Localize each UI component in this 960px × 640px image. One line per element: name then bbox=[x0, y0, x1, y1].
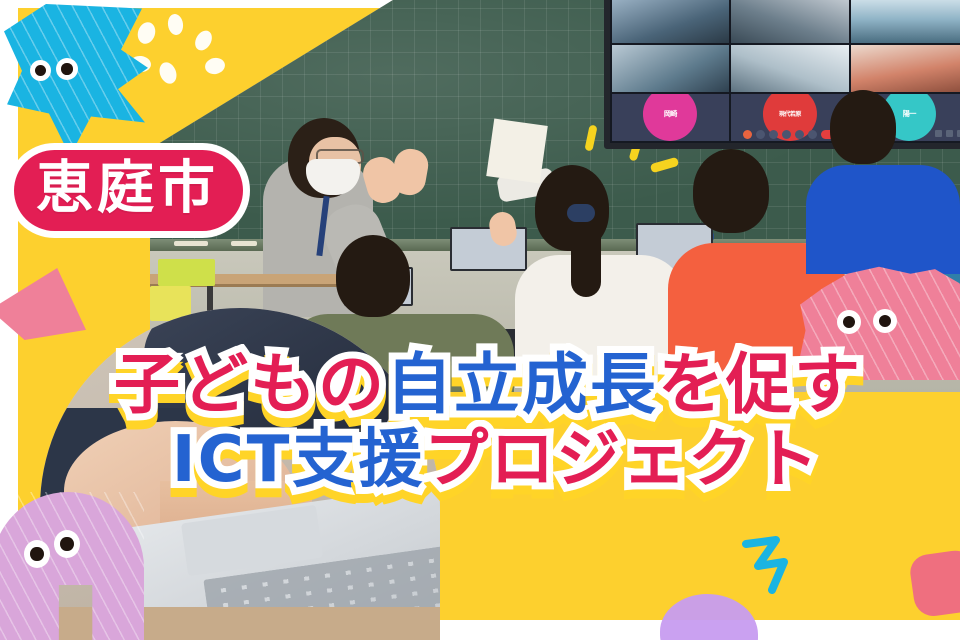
title-char: 長 bbox=[589, 352, 657, 418]
video-tile bbox=[851, 45, 960, 92]
chat-icon bbox=[795, 130, 804, 139]
title-char: 自 bbox=[385, 352, 453, 418]
star-mascot bbox=[4, 4, 154, 156]
city-char-3: 市 bbox=[158, 160, 217, 217]
settings-icon bbox=[935, 130, 942, 137]
network-icon bbox=[946, 130, 953, 137]
student-head bbox=[336, 235, 410, 317]
video-tile bbox=[731, 45, 849, 92]
title-char: ど bbox=[181, 352, 249, 418]
chalk-piece bbox=[231, 241, 257, 246]
cloud-mascot-eye-left bbox=[837, 310, 861, 334]
participants-icon bbox=[782, 130, 791, 139]
star-mascot-eye-left bbox=[30, 60, 51, 81]
title-char: も bbox=[249, 352, 317, 418]
title-char: 子 bbox=[113, 352, 181, 418]
arch-mascot-body bbox=[0, 492, 144, 640]
title-char: 成 bbox=[521, 352, 589, 418]
video-tile bbox=[612, 0, 730, 43]
mic-icon bbox=[743, 130, 752, 139]
title-char: 支 bbox=[291, 428, 357, 492]
video-tile-avatar: 岡崎 bbox=[612, 94, 730, 141]
title-line-1: 子 ど も の 自 立 成 長 を 促 す bbox=[14, 352, 960, 418]
title-char: 立 bbox=[453, 352, 521, 418]
title-char: ト bbox=[753, 428, 819, 492]
cloud-mascot-eye-right bbox=[873, 309, 897, 333]
yellow-tray bbox=[158, 259, 215, 286]
arch-mascot-eye-left bbox=[24, 540, 50, 568]
display-status-icons bbox=[935, 130, 960, 137]
city-name-pill: 恵 庭 市 bbox=[14, 150, 243, 231]
chalk-piece bbox=[174, 241, 208, 246]
title-char: T bbox=[246, 428, 292, 492]
city-name-badge: 恵 庭 市 bbox=[14, 150, 243, 231]
video-conference-display: 岡崎 現代若原 陽一 bbox=[604, 0, 960, 149]
participant-avatar: 岡崎 bbox=[643, 94, 697, 141]
texture-overlay bbox=[4, 4, 154, 156]
texture-overlay bbox=[0, 492, 144, 640]
share-icon bbox=[769, 130, 778, 139]
video-tile bbox=[731, 0, 849, 43]
teacher-face-mask bbox=[306, 159, 360, 195]
title-char: ロ bbox=[489, 428, 555, 492]
city-char-1: 恵 bbox=[36, 160, 95, 217]
arch-mascot-eye-right bbox=[54, 530, 80, 558]
camera-icon bbox=[756, 130, 765, 139]
hair-tie bbox=[567, 204, 595, 222]
title-char: C bbox=[197, 428, 246, 492]
video-tile bbox=[851, 0, 960, 43]
student-head bbox=[693, 149, 769, 233]
city-char-2: 庭 bbox=[97, 160, 156, 217]
title-char: ク bbox=[687, 428, 753, 492]
student-head bbox=[830, 90, 896, 164]
title-line-2: I C T 支 援 プ ロ ジ ェ ク ト bbox=[30, 428, 960, 492]
ponytail bbox=[571, 227, 601, 297]
title-char: プ bbox=[423, 428, 489, 492]
video-tile bbox=[612, 45, 730, 92]
star-mascot-body bbox=[4, 4, 154, 156]
more-icon bbox=[808, 130, 817, 139]
call-controls-toolbar bbox=[743, 130, 837, 139]
star-mascot-eye-right bbox=[56, 58, 78, 80]
main-title: 子 ど も の 自 立 成 長 を 促 す I C T 支 援 プ ロ ジ ェ … bbox=[0, 352, 960, 492]
title-char: を bbox=[657, 352, 725, 418]
title-char: の bbox=[317, 352, 385, 418]
student-body bbox=[806, 165, 960, 275]
promo-banner: 岡崎 現代若原 陽一 bbox=[0, 0, 960, 640]
document-camera-paper bbox=[486, 118, 548, 183]
zigzag-decoration bbox=[740, 532, 816, 596]
title-char: ェ bbox=[621, 428, 687, 492]
title-char: ジ bbox=[555, 428, 621, 492]
title-char: I bbox=[171, 428, 197, 492]
title-char: す bbox=[793, 352, 861, 418]
title-char: 促 bbox=[725, 352, 793, 418]
title-char: 援 bbox=[357, 428, 423, 492]
arch-mascot bbox=[0, 492, 144, 640]
